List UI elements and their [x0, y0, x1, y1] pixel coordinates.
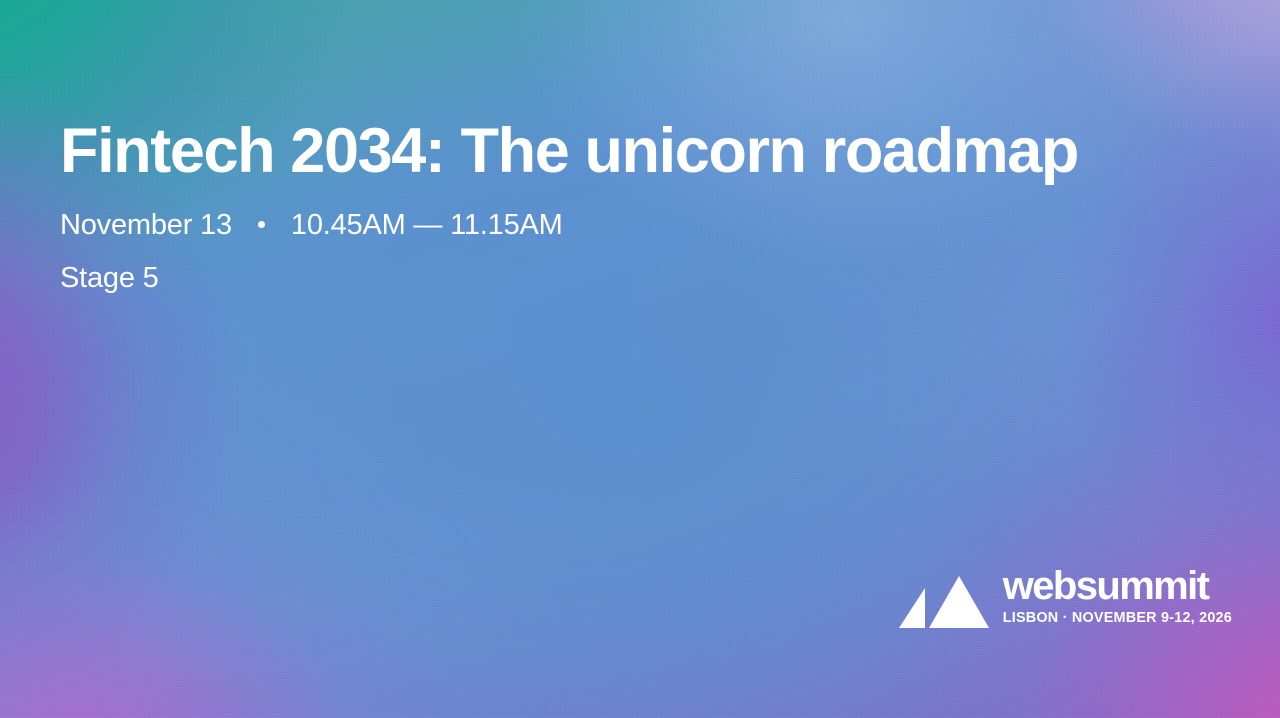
session-details: Fintech 2034: The unicorn roadmap Novemb…	[60, 118, 1160, 296]
session-title: Fintech 2034: The unicorn roadmap	[60, 118, 1160, 185]
websummit-logo: websummit LISBON · NOVEMBER 9-12, 2026	[899, 567, 1232, 628]
websummit-wordmark: websummit	[1003, 567, 1232, 606]
bullet-separator-icon	[258, 221, 265, 228]
websummit-triangles-icon	[899, 571, 989, 628]
session-stage: Stage 5	[60, 260, 1160, 296]
websummit-tagline: LISBON · NOVEMBER 9-12, 2026	[1003, 611, 1232, 627]
websummit-logotype: websummit LISBON · NOVEMBER 9-12, 2026	[1003, 567, 1232, 628]
session-card: Fintech 2034: The unicorn roadmap Novemb…	[0, 0, 1280, 718]
session-meta: November 13 10.45AM — 11.15AM	[60, 207, 1160, 243]
session-time: 10.45AM — 11.15AM	[291, 207, 563, 243]
session-date: November 13	[60, 207, 232, 243]
